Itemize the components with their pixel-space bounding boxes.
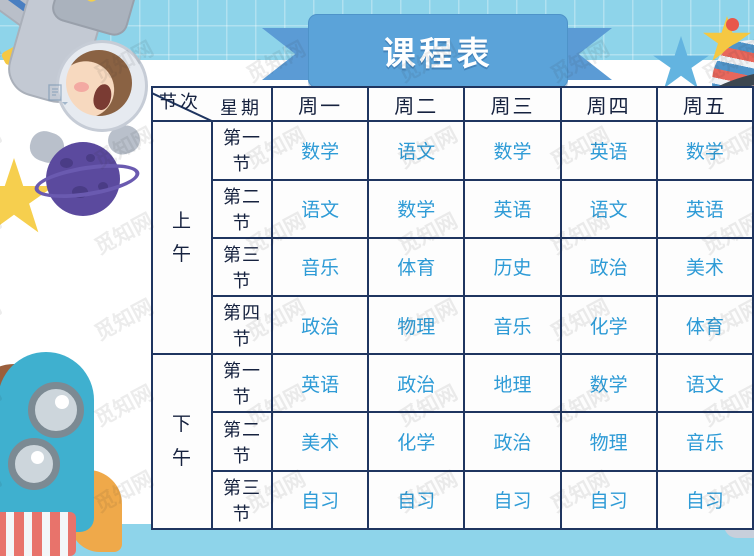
corner-day-label: 星期: [220, 94, 262, 120]
subject-cell[interactable]: 音乐: [272, 238, 368, 296]
day-header-周三: 周三: [464, 87, 560, 121]
period-label: 第四节: [212, 296, 272, 354]
subject-cell[interactable]: 自习: [272, 471, 368, 529]
subject-cell[interactable]: 语文: [272, 180, 368, 238]
session-label-上午: 上午: [152, 121, 212, 354]
period-label: 第一节: [212, 354, 272, 412]
period-label: 第三节: [212, 471, 272, 529]
page-title: 课程表: [383, 27, 494, 75]
period-label: 第三节: [212, 238, 272, 296]
table-row: 第三节音乐体育历史政治美术: [152, 238, 753, 296]
banner-panel: 课程表: [308, 14, 568, 88]
period-label: 第二节: [212, 180, 272, 238]
session-char: 午: [157, 238, 207, 271]
schedule-table-wrapper: 星期节次周一周二周三周四周五上午第一节数学语文数学英语数学第二节语文数学英语语文…: [151, 86, 754, 530]
subject-cell[interactable]: 美术: [657, 238, 753, 296]
subject-cell[interactable]: 语文: [657, 354, 753, 412]
subject-cell[interactable]: 英语: [561, 121, 657, 179]
subject-cell[interactable]: 政治: [464, 412, 560, 470]
session-char: 下: [157, 408, 207, 441]
session-char: 午: [157, 442, 207, 475]
table-row: 第二节美术化学政治物理音乐: [152, 412, 753, 470]
table-header-row: 星期节次周一周二周三周四周五: [152, 87, 753, 121]
subject-cell[interactable]: 语文: [368, 121, 464, 179]
subject-cell[interactable]: 政治: [368, 354, 464, 412]
subject-cell[interactable]: 数学: [368, 180, 464, 238]
corner-header-cell: 星期节次: [152, 87, 272, 121]
period-label: 第一节: [212, 121, 272, 179]
subject-cell[interactable]: 体育: [368, 238, 464, 296]
subject-cell[interactable]: 政治: [561, 238, 657, 296]
subject-cell[interactable]: 自习: [464, 471, 560, 529]
table-row: 第三节自习自习自习自习自习: [152, 471, 753, 529]
subject-cell[interactable]: 音乐: [464, 296, 560, 354]
corner-period-label: 节次: [159, 88, 201, 114]
subject-cell[interactable]: 自习: [561, 471, 657, 529]
subject-cell[interactable]: 数学: [272, 121, 368, 179]
table-row: 第二节语文数学英语语文英语: [152, 180, 753, 238]
subject-cell[interactable]: 物理: [561, 412, 657, 470]
session-label-下午: 下午: [152, 354, 212, 529]
subject-cell[interactable]: 政治: [272, 296, 368, 354]
schedule-table: 星期节次周一周二周三周四周五上午第一节数学语文数学英语数学第二节语文数学英语语文…: [151, 86, 754, 530]
day-header-周一: 周一: [272, 87, 368, 121]
table-row: 下午第一节英语政治地理数学语文: [152, 354, 753, 412]
subject-cell[interactable]: 地理: [464, 354, 560, 412]
table-row: 上午第一节数学语文数学英语数学: [152, 121, 753, 179]
subject-cell[interactable]: 化学: [368, 412, 464, 470]
subject-cell[interactable]: 英语: [464, 180, 560, 238]
subject-cell[interactable]: 数学: [464, 121, 560, 179]
table-row: 第四节政治物理音乐化学体育: [152, 296, 753, 354]
subject-cell[interactable]: 美术: [272, 412, 368, 470]
subject-cell[interactable]: 数学: [657, 121, 753, 179]
subject-cell[interactable]: 自习: [368, 471, 464, 529]
subject-cell[interactable]: 体育: [657, 296, 753, 354]
day-header-周四: 周四: [561, 87, 657, 121]
subject-cell[interactable]: 音乐: [657, 412, 753, 470]
subject-cell[interactable]: 英语: [657, 180, 753, 238]
subject-cell[interactable]: 自习: [657, 471, 753, 529]
subject-cell[interactable]: 英语: [272, 354, 368, 412]
subject-cell[interactable]: 语文: [561, 180, 657, 238]
subject-cell[interactable]: 化学: [561, 296, 657, 354]
subject-cell[interactable]: 数学: [561, 354, 657, 412]
day-header-周五: 周五: [657, 87, 753, 121]
subject-cell[interactable]: 历史: [464, 238, 560, 296]
session-char: 上: [157, 205, 207, 238]
title-banner: 课程表: [262, 14, 612, 80]
period-label: 第二节: [212, 412, 272, 470]
subject-cell[interactable]: 物理: [368, 296, 464, 354]
day-header-周二: 周二: [368, 87, 464, 121]
